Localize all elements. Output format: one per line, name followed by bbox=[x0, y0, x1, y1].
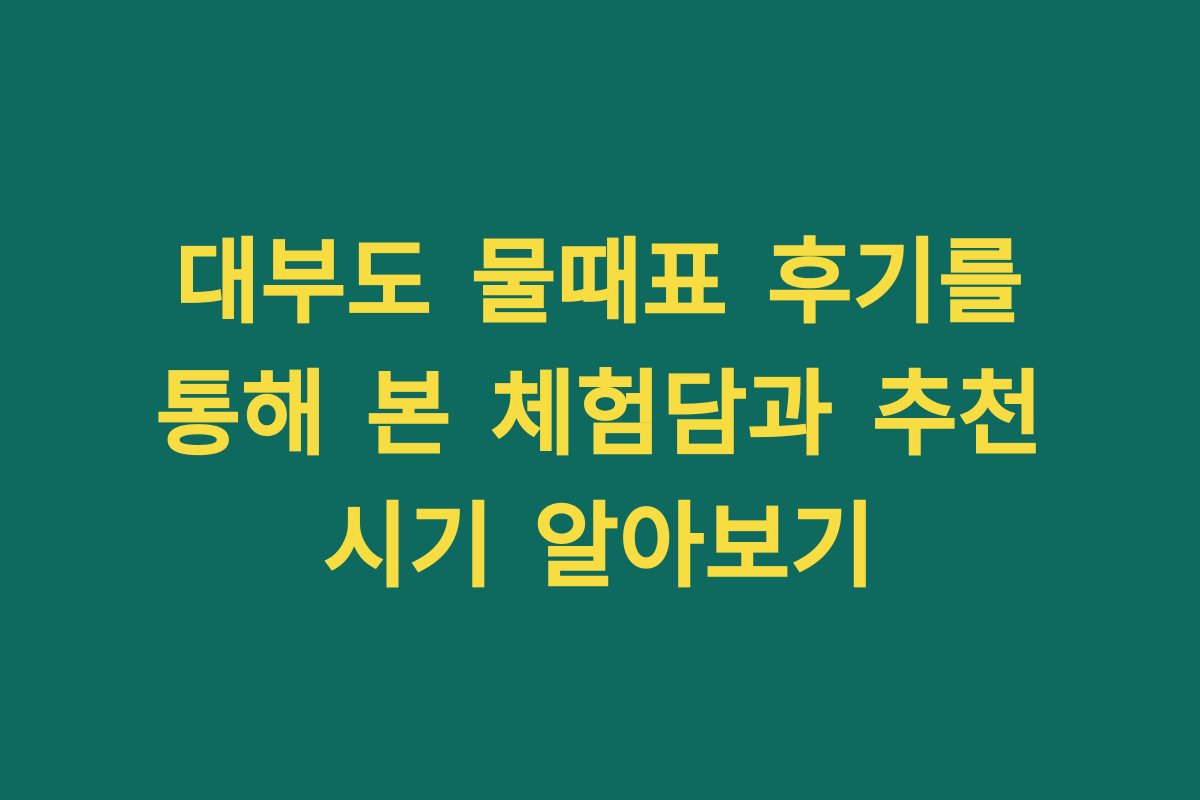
headline-line-2: 통해 본 체험담과 추천 bbox=[50, 349, 1150, 481]
headline-block: 대부도 물때표 후기를 통해 본 체험담과 추천 시기 알아보기 bbox=[50, 217, 1150, 613]
headline-line-3: 시기 알아보기 bbox=[50, 481, 1150, 613]
headline-line-1: 대부도 물때표 후기를 bbox=[50, 217, 1150, 349]
thumbnail-card: 대부도 물때표 후기를 통해 본 체험담과 추천 시기 알아보기 bbox=[0, 0, 1200, 800]
